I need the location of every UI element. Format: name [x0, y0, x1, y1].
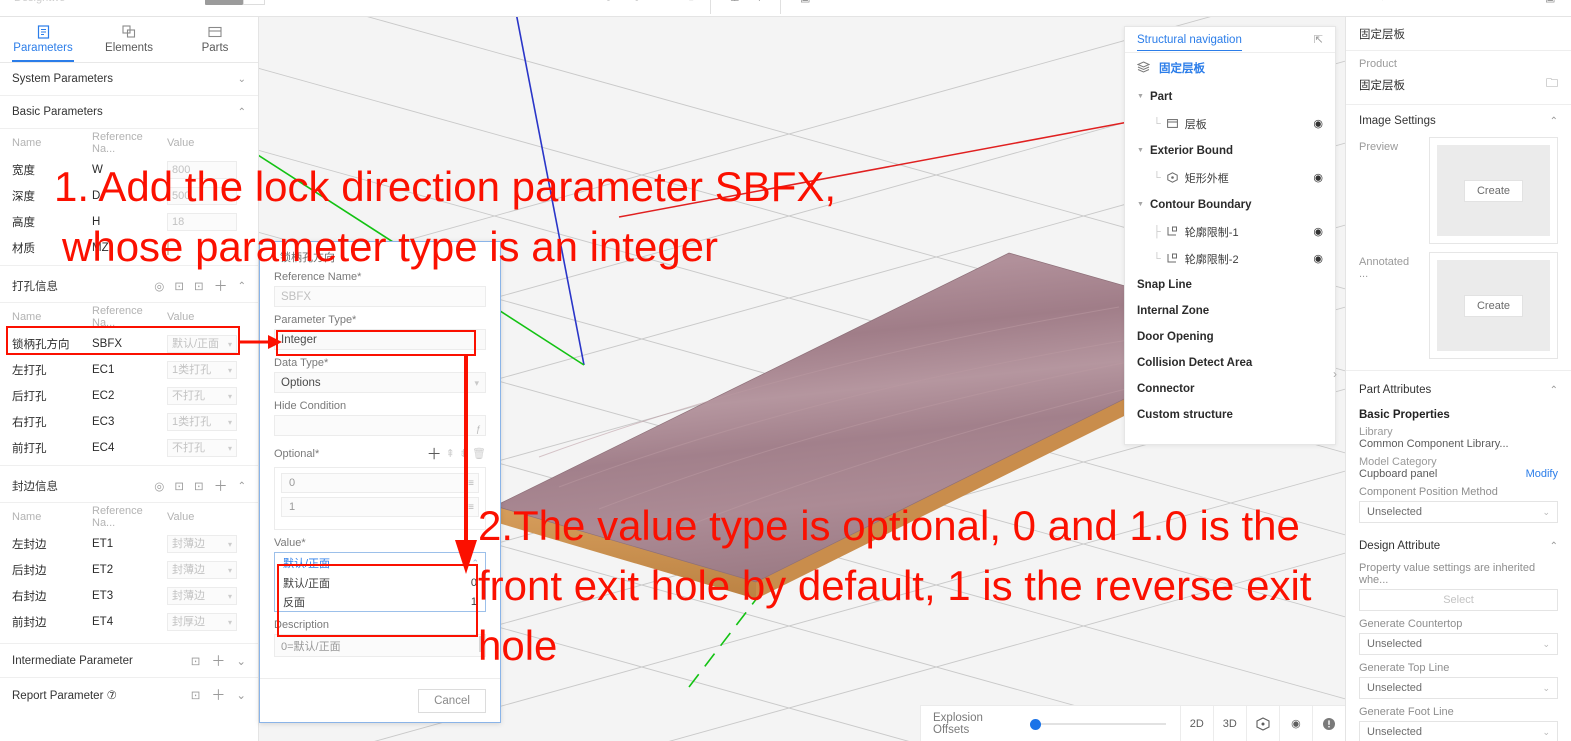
optional-label: Optional* — [274, 448, 427, 460]
section-drill-info-label: 打孔信息 — [12, 278, 154, 294]
position-method-block: Component Position Method Unselected ⌄ — [1346, 486, 1571, 530]
dialog-footer: Cancel — [260, 678, 500, 722]
value-select-ec1[interactable]: 1类打孔▾ — [167, 361, 237, 379]
drill-columns-header: Name Reference Na... Value — [0, 303, 258, 331]
chevron-up-icon: ⌃ — [238, 107, 246, 118]
section-edge-info-label: 封边信息 — [12, 478, 154, 494]
generate-countertop-value: Unselected — [1367, 638, 1422, 650]
chevron-down-icon: ⌄ — [236, 688, 246, 702]
explosion-offsets-label: Explosion Offsets — [933, 712, 1020, 736]
add-icon[interactable]: ＋ — [211, 651, 225, 671]
nav-item-rect-frame[interactable]: └ 矩形外框 ◉ — [1125, 164, 1335, 191]
chevron-down-icon: ⌄ — [236, 654, 246, 668]
elements-icon — [122, 25, 136, 39]
add-option-icon[interactable]: ＋ — [427, 443, 442, 464]
description-value: 0=默认/正面 — [281, 641, 341, 653]
section-image-settings[interactable]: Image Settings ⌃ — [1346, 105, 1571, 137]
preview-placeholder: Create — [1437, 145, 1550, 236]
nav-item-contour-2[interactable]: └ 轮廓限制-2 ◉ — [1125, 245, 1335, 272]
nav-item-internal-zone-label: Internal Zone — [1137, 305, 1209, 317]
optional-item[interactable]: 0 ≡ — [281, 473, 479, 493]
eye-icon[interactable]: ◉ — [1279, 706, 1312, 741]
sort-desc-icon[interactable]: ⇟ — [459, 447, 468, 460]
export-icon[interactable]: ⊡ — [194, 479, 204, 493]
export-icon[interactable]: ⊡ — [194, 279, 204, 293]
basic-columns-header: Name Reference Na... Value — [0, 129, 258, 157]
slider-knob[interactable] — [1030, 719, 1041, 730]
row-ref: MZ — [92, 242, 167, 254]
value-select-ec4[interactable]: 不打孔▾ — [167, 439, 237, 457]
nav-item-snap-line[interactable]: Snap Line — [1125, 272, 1335, 298]
row-name: 后打孔 — [12, 388, 92, 404]
data-type-select[interactable]: Options ▾ — [274, 372, 486, 393]
tree-branch-icon: └ — [1153, 172, 1161, 184]
collapse-panel-icon[interactable]: › — [1333, 367, 1337, 381]
library-block: Library Common Component Library... — [1346, 426, 1571, 456]
scrollbar-thumb[interactable] — [479, 636, 484, 652]
nav-group-contour-boundary-label: Contour Boundary — [1150, 199, 1252, 211]
section-report-parameter-label: Report Parameter ⑦ — [12, 688, 191, 702]
align-icon[interactable]: ⊥ — [730, 0, 740, 4]
col-value: Value — [167, 137, 246, 149]
table-row[interactable]: 材质 MZ — [0, 235, 258, 261]
chevron-down-icon: ▾ — [228, 336, 232, 353]
library-label: Library — [1359, 426, 1558, 438]
panel-icon — [1167, 118, 1178, 129]
col-name: Name — [12, 137, 92, 149]
table-row[interactable]: 高度 H 18 — [0, 209, 258, 235]
col-name: Name — [12, 311, 92, 323]
paste-icon[interactable]: ⌷ — [688, 0, 695, 4]
edge-columns-header: Name Reference Na... Value — [0, 503, 258, 531]
row-ref: ET3 — [92, 590, 167, 602]
view-2d-button[interactable]: 2D — [1180, 706, 1213, 741]
value-text: 封厚边 — [172, 614, 205, 631]
generate-countertop-label: Generate Countertop — [1359, 618, 1558, 630]
redo-icon[interactable]: ↻ — [632, 0, 641, 4]
row-ref: EC1 — [92, 364, 167, 376]
optional-item-value: 0 — [289, 477, 468, 489]
value-option-num: 0 — [471, 577, 477, 589]
value-select-et2[interactable]: 封薄边▾ — [167, 561, 237, 579]
nav-root-label: 固定层板 — [1159, 60, 1205, 76]
chevron-up-icon: ⌃ — [1550, 385, 1558, 396]
chevron-down-icon: ▾ — [228, 588, 232, 605]
tab-parameters-label: Parameters — [13, 42, 72, 54]
annotated-row: Annotated ... Create — [1346, 252, 1571, 367]
drag-handle-icon[interactable]: ≡ — [468, 478, 474, 489]
row-ref: EC3 — [92, 416, 167, 428]
chevron-up-icon: ⌃ — [1550, 541, 1558, 552]
add-icon[interactable]: ＋ — [214, 276, 228, 296]
row-name: 高度 — [12, 214, 92, 230]
section-edge-info[interactable]: 封边信息 ◎ ⊡ ⊡ ＋ ⌃ — [0, 470, 258, 503]
structural-navigation-header: Structural navigation ⇱ — [1125, 27, 1335, 53]
reference-name-input[interactable]: SBFX — [274, 286, 486, 307]
chevron-down-icon: ▾ — [228, 362, 232, 379]
panel-right-icon[interactable]: ▬ — [1508, 0, 1519, 3]
nav-item-door-opening[interactable]: Door Opening — [1125, 324, 1335, 350]
value-input-d[interactable]: 500 — [167, 187, 237, 205]
eye-icon[interactable]: ◉ — [1313, 117, 1323, 130]
generate-top-line-value: Unselected — [1367, 682, 1422, 694]
col-value: Value — [167, 311, 246, 323]
col-value: Value — [167, 511, 246, 523]
optional-list: 0 ≡ 1 ≡ — [274, 467, 486, 530]
tab-elements-label: Elements — [105, 42, 153, 54]
value-text: 封薄边 — [172, 588, 205, 605]
reference-name-label: Reference Name* — [274, 271, 486, 283]
row-ref: ET1 — [92, 538, 167, 550]
nav-item-contour-1-label: 轮廓限制-1 — [1185, 224, 1314, 240]
generate-countertop-select[interactable]: Unselected ⌄ — [1359, 633, 1558, 655]
hide-condition-label: Hide Condition — [274, 400, 486, 412]
nav-item-collision-detect-area-label: Collision Detect Area — [1137, 357, 1252, 369]
section-intermediate-parameter-label: Intermediate Parameter — [12, 655, 191, 667]
nav-item-rect-frame-label: 矩形外框 — [1185, 170, 1314, 186]
chevron-down-icon: ▾ — [228, 414, 232, 431]
value-text: 封薄边 — [172, 536, 205, 553]
parameter-type-label: Parameter Type* — [274, 314, 486, 326]
chevron-down-icon: ▾ — [228, 536, 232, 553]
generate-countertop-block: Generate Countertop Unselected ⌄ — [1346, 618, 1571, 662]
inherit-block: Property value settings are inherited wh… — [1346, 562, 1571, 618]
nav-item-custom-structure-label: Custom structure — [1137, 409, 1233, 421]
contour-icon — [1167, 226, 1178, 237]
value-option[interactable]: 反面 1 — [275, 592, 485, 611]
triangle-down-icon: ▼ — [1137, 201, 1144, 208]
generate-top-line-block: Generate Top Line Unselected ⌄ — [1346, 662, 1571, 706]
top-toolbar-strip: Designtwo ↺ ↻ ⧉ ⌷ ⊥ ⊦ ▣ ✎ ▬ ▬ ▬ ▣ — [0, 0, 1571, 17]
value-text: 默认/正面 — [172, 336, 219, 353]
value-dropdown-current-label: 默认/正面 — [283, 555, 330, 571]
hide-condition-input[interactable]: ƒ — [274, 415, 486, 436]
position-method-label: Component Position Method — [1359, 486, 1558, 498]
section-intermediate-parameter[interactable]: Intermediate Parameter ⊡ ＋ ⌄ — [0, 643, 258, 677]
chevron-up-icon: ⌃ — [238, 281, 246, 292]
table-row[interactable]: 前封边 ET4 封厚边▾ — [0, 609, 258, 635]
nav-item-panel-label: 层板 — [1185, 116, 1314, 132]
parameter-edit-dialog: 锁柄孔方向 Reference Name* SBFX Parameter Typ… — [259, 241, 501, 723]
slider-track — [1030, 723, 1166, 725]
material-swatch[interactable] — [167, 241, 169, 255]
nav-group-exterior-bound[interactable]: ▼ Exterior Bound — [1125, 137, 1335, 164]
tree-branch-icon: ├ — [1153, 226, 1161, 238]
import-icon[interactable]: ⊡ — [191, 688, 201, 702]
value-text: 不打孔 — [172, 440, 205, 457]
explosion-offsets-slider[interactable] — [1030, 717, 1166, 731]
row-name: 前打孔 — [12, 440, 92, 456]
panel-mid-icon[interactable]: ▬ — [1468, 0, 1479, 3]
chevron-down-icon: ▾ — [228, 440, 232, 457]
eye-icon[interactable]: ◉ — [1313, 171, 1323, 184]
create-preview-button[interactable]: Create — [1464, 180, 1523, 202]
annotated-placeholder: Create — [1437, 260, 1550, 351]
nav-group-contour-boundary[interactable]: ▼ Contour Boundary — [1125, 191, 1335, 218]
bottom-toolbar: Explosion Offsets 2D 3D ◉ — [920, 705, 1345, 741]
data-type-value: Options — [281, 373, 321, 393]
section-drill-info[interactable]: 打孔信息 ◎ ⊡ ⊡ ＋ ⌃ — [0, 270, 258, 303]
formula-icon[interactable]: ƒ — [476, 424, 481, 434]
product-value: 固定层板 — [1359, 77, 1546, 93]
generate-foot-line-block: Generate Foot Line Unselected ⌄ — [1346, 706, 1571, 741]
view-3d-button[interactable]: 3D — [1213, 706, 1246, 741]
box-icon — [1167, 172, 1178, 183]
row-ref: ET2 — [92, 564, 167, 576]
preview-image-box[interactable]: Create — [1429, 137, 1558, 244]
nav-group-part-label: Part — [1150, 91, 1172, 103]
tree-branch-icon: └ — [1153, 118, 1161, 130]
data-type-label: Data Type* — [274, 357, 486, 369]
nav-item-collision-detect-area[interactable]: Collision Detect Area — [1125, 350, 1335, 376]
document-icon — [37, 25, 50, 39]
panel-left-icon[interactable]: ▬ — [1425, 0, 1436, 3]
structural-navigation-title: Structural navigation — [1137, 34, 1242, 51]
chevron-up-icon: ⌃ — [1550, 116, 1558, 127]
sort-asc-icon[interactable]: ⇞ — [446, 447, 455, 460]
value-option-label: 反面 — [283, 594, 305, 610]
product-block: Product 固定层板 🗀 — [1346, 51, 1571, 105]
col-name: Name — [12, 511, 92, 523]
generate-top-line-select[interactable]: Unselected ⌄ — [1359, 677, 1558, 699]
model-category-block: Model Category Cupboard panel Modify — [1346, 456, 1571, 486]
section-design-attribute[interactable]: Design Attribute ⌃ — [1346, 530, 1571, 562]
nav-item-internal-zone[interactable]: Internal Zone — [1125, 298, 1335, 324]
position-method-select[interactable]: Unselected ⌄ — [1359, 501, 1558, 523]
chevron-down-icon: ⌄ — [1542, 639, 1550, 650]
create-annotated-button[interactable]: Create — [1464, 295, 1523, 317]
box-icon[interactable] — [1246, 706, 1279, 741]
table-row[interactable]: 右封边 ET3 封薄边▾ — [0, 583, 258, 609]
chevron-up-icon: ⌃ — [471, 558, 479, 569]
toolbar-white-button[interactable] — [243, 0, 265, 5]
inherit-note-label: Property value settings are inherited wh… — [1359, 562, 1558, 586]
value-select-ec3[interactable]: 1类打孔▾ — [167, 413, 237, 431]
copy-icon[interactable]: ⧉ — [660, 0, 668, 4]
generate-foot-line-label: Generate Foot Line — [1359, 706, 1558, 718]
description-label: Description — [274, 619, 486, 631]
tab-parts[interactable]: Parts — [172, 17, 258, 62]
nav-item-door-opening-label: Door Opening — [1137, 331, 1214, 343]
nav-item-custom-structure[interactable]: Custom structure — [1125, 402, 1335, 428]
app-name-label: Designtwo — [14, 0, 65, 4]
import-icon[interactable]: ⊡ — [174, 479, 184, 493]
value-text: 1类打孔 — [172, 414, 211, 431]
row-ref: H — [92, 216, 167, 228]
table-row[interactable]: 宽度 W 800 — [0, 157, 258, 183]
value-option[interactable]: 默认/正面 0 — [275, 573, 485, 592]
value-select-sbfx[interactable]: 默认/正面▾ — [167, 335, 237, 353]
settings-icon[interactable]: ▣ — [1545, 0, 1555, 4]
section-image-settings-label: Image Settings — [1359, 115, 1550, 127]
row-name: 右封边 — [12, 588, 92, 604]
cancel-button[interactable]: Cancel — [418, 689, 486, 713]
modify-link[interactable]: Modify — [1526, 468, 1558, 480]
folder-icon[interactable]: 🗀 — [1546, 74, 1558, 95]
row-name: 右打孔 — [12, 414, 92, 430]
eye-icon[interactable]: ◉ — [1313, 252, 1323, 265]
row-name: 锁柄孔方向 — [12, 336, 92, 352]
contour-icon — [1167, 253, 1178, 264]
value-text: 封薄边 — [172, 562, 205, 579]
row-name: 后封边 — [12, 562, 92, 578]
nav-group-exterior-bound-label: Exterior Bound — [1150, 145, 1233, 157]
row-ref: EC4 — [92, 442, 167, 454]
row-ref: SBFX — [92, 338, 167, 350]
row-ref: W — [92, 164, 167, 176]
value-input-w[interactable]: 800 — [167, 161, 237, 179]
row-ref: D — [92, 190, 167, 202]
table-row[interactable]: 后封边 ET2 封薄边▾ — [0, 557, 258, 583]
position-method-value: Unselected — [1367, 506, 1422, 518]
table-row[interactable]: 深度 D 500 — [0, 183, 258, 209]
chevron-down-icon: ▾ — [474, 373, 479, 393]
import-icon[interactable]: ⊡ — [174, 279, 184, 293]
generate-foot-line-value: Unselected — [1367, 726, 1422, 738]
import-icon[interactable]: ⊡ — [191, 654, 201, 668]
nav-root-item[interactable]: 固定层板 — [1125, 53, 1335, 83]
tab-parts-label: Parts — [202, 42, 229, 54]
model-category-value: Cupboard panel — [1359, 468, 1526, 480]
right-properties-panel: 固定层板 Product 固定层板 🗀 Image Settings ⌃ Pre… — [1345, 17, 1571, 741]
row-name: 宽度 — [12, 162, 92, 178]
generate-top-line-label: Generate Top Line — [1359, 662, 1558, 674]
nav-item-contour-2-label: 轮廓限制-2 — [1185, 251, 1314, 267]
value-select-ec2[interactable]: 不打孔▾ — [167, 387, 237, 405]
preview-label: Preview — [1359, 137, 1419, 244]
expand-icon[interactable]: ⇱ — [1314, 33, 1323, 46]
value-dropdown[interactable]: 默认/正面 ⌃ 默认/正面 0 反面 1 — [274, 552, 486, 612]
inherit-value: Select — [1443, 594, 1474, 606]
add-icon[interactable]: ＋ — [211, 685, 225, 705]
section-part-attributes[interactable]: Part Attributes ⌃ — [1346, 374, 1571, 406]
table-row[interactable]: 后打孔 EC2 不打孔▾ — [0, 383, 258, 409]
parameter-type-input[interactable]: Integer — [274, 329, 486, 350]
layers-icon — [1137, 61, 1150, 76]
tree-branch-icon: └ — [1153, 253, 1161, 265]
value-option-num: 1 — [471, 596, 477, 608]
parts-icon — [208, 25, 222, 39]
col-reference: Reference Na... — [92, 505, 167, 529]
col-reference: Reference Na... — [92, 131, 167, 155]
nav-item-contour-1[interactable]: ├ 轮廓限制-1 ◉ — [1125, 218, 1335, 245]
value-select-et3[interactable]: 封薄边▾ — [167, 587, 237, 605]
group-icon[interactable]: ▣ — [800, 0, 810, 4]
value-select-et4[interactable]: 封厚边▾ — [167, 613, 237, 631]
eye-icon[interactable]: ◉ — [1313, 225, 1323, 238]
row-name: 左封边 — [12, 536, 92, 552]
inherit-select[interactable]: Select — [1359, 589, 1558, 611]
section-system-parameters-label: System Parameters — [12, 73, 228, 85]
value-input-h[interactable]: 18 — [167, 213, 237, 231]
annotated-label: Annotated ... — [1359, 252, 1419, 359]
info-icon[interactable] — [1312, 706, 1345, 741]
annotated-image-box[interactable]: Create — [1429, 252, 1558, 359]
table-row[interactable]: 左打孔 EC1 1类打孔▾ — [0, 357, 258, 383]
model-category-label: Model Category — [1359, 456, 1558, 468]
product-label: Product — [1359, 58, 1558, 70]
row-name: 左打孔 — [12, 362, 92, 378]
undo-icon[interactable]: ↺ — [604, 0, 613, 4]
generate-foot-line-select[interactable]: Unselected ⌄ — [1359, 721, 1558, 741]
chevron-down-icon: ⌄ — [1542, 683, 1550, 694]
left-parameters-panel: Parameters Elements Parts System Paramet… — [0, 17, 259, 741]
triangle-down-icon: ▼ — [1137, 93, 1144, 100]
basic-properties-heading: Basic Properties — [1346, 406, 1571, 426]
chevron-down-icon: ▾ — [228, 562, 232, 579]
nav-item-panel[interactable]: └ 层板 ◉ — [1125, 110, 1335, 137]
row-name: 深度 — [12, 188, 92, 204]
library-value: Common Component Library... — [1359, 438, 1558, 450]
structural-navigation-panel: Structural navigation ⇱ 固定层板 ▼ Part └ 层板… — [1124, 26, 1336, 445]
delete-icon[interactable]: 🗑 — [472, 447, 486, 460]
nav-item-snap-line-label: Snap Line — [1137, 279, 1192, 291]
value-option-label: 默认/正面 — [283, 575, 330, 591]
chevron-down-icon: ▾ — [228, 614, 232, 631]
value-select-et1[interactable]: 封薄边▾ — [167, 535, 237, 553]
section-design-attribute-label: Design Attribute — [1359, 540, 1550, 552]
row-ref: EC2 — [92, 390, 167, 402]
row-name: 材质 — [12, 240, 92, 256]
target-icon[interactable]: ◎ — [154, 279, 164, 293]
value-label: Value* — [274, 537, 486, 549]
value-text: 不打孔 — [172, 388, 205, 405]
chevron-down-icon: ⌄ — [1542, 727, 1550, 738]
pen-icon[interactable]: ✎ — [1375, 0, 1384, 4]
section-report-parameter[interactable]: Report Parameter ⑦ ⊡ ＋ ⌄ — [0, 677, 258, 711]
table-row[interactable]: 前打孔 EC4 不打孔▾ — [0, 435, 258, 461]
left-panel-tabs: Parameters Elements Parts — [0, 17, 258, 63]
chevron-up-icon: ⌃ — [238, 481, 246, 492]
toolbar-grey-button[interactable] — [205, 0, 243, 5]
value-text: 1类打孔 — [172, 362, 211, 379]
target-icon[interactable]: ◎ — [154, 479, 164, 493]
nav-item-connector[interactable]: Connector — [1125, 376, 1335, 402]
section-system-parameters[interactable]: System Parameters ⌄ — [0, 63, 258, 96]
optional-item-value: 1 — [289, 501, 468, 513]
section-basic-parameters-label: Basic Parameters — [12, 106, 228, 118]
value-dropdown-current[interactable]: 默认/正面 ⌃ — [275, 553, 485, 573]
chevron-down-icon: ⌄ — [1542, 507, 1550, 518]
right-panel-title: 固定层板 — [1346, 17, 1571, 51]
drag-handle-icon[interactable]: ≡ — [468, 502, 474, 513]
chevron-down-icon: ▾ — [228, 388, 232, 405]
description-input[interactable]: 0=默认/正面 — [274, 634, 486, 657]
tab-elements[interactable]: Elements — [86, 17, 172, 62]
table-row[interactable]: 左封边 ET1 封薄边▾ — [0, 531, 258, 557]
add-icon[interactable]: ＋ — [214, 476, 228, 496]
distribute-icon[interactable]: ⊦ — [758, 0, 764, 4]
row-name: 前封边 — [12, 614, 92, 630]
optional-item[interactable]: 1 ≡ — [281, 497, 479, 517]
nav-item-connector-label: Connector — [1137, 383, 1195, 395]
chevron-down-icon: ⌄ — [238, 74, 246, 85]
section-basic-parameters[interactable]: Basic Parameters ⌃ — [0, 96, 258, 129]
row-ref: ET4 — [92, 616, 167, 628]
preview-row: Preview Create — [1346, 137, 1571, 252]
dialog-top-field-value: 锁柄孔方向 — [274, 248, 486, 264]
tab-parameters[interactable]: Parameters — [0, 17, 86, 62]
table-row[interactable]: 右打孔 EC3 1类打孔▾ — [0, 409, 258, 435]
application-window: Designtwo ↺ ↻ ⧉ ⌷ ⊥ ⊦ ▣ ✎ ▬ ▬ ▬ ▣ — [0, 0, 1571, 741]
nav-group-part[interactable]: ▼ Part — [1125, 83, 1335, 110]
col-reference: Reference Na... — [92, 305, 167, 329]
triangle-down-icon: ▼ — [1137, 147, 1144, 154]
section-part-attributes-label: Part Attributes — [1359, 384, 1550, 396]
table-row-sbfx[interactable]: 锁柄孔方向 SBFX 默认/正面▾ — [0, 331, 258, 357]
